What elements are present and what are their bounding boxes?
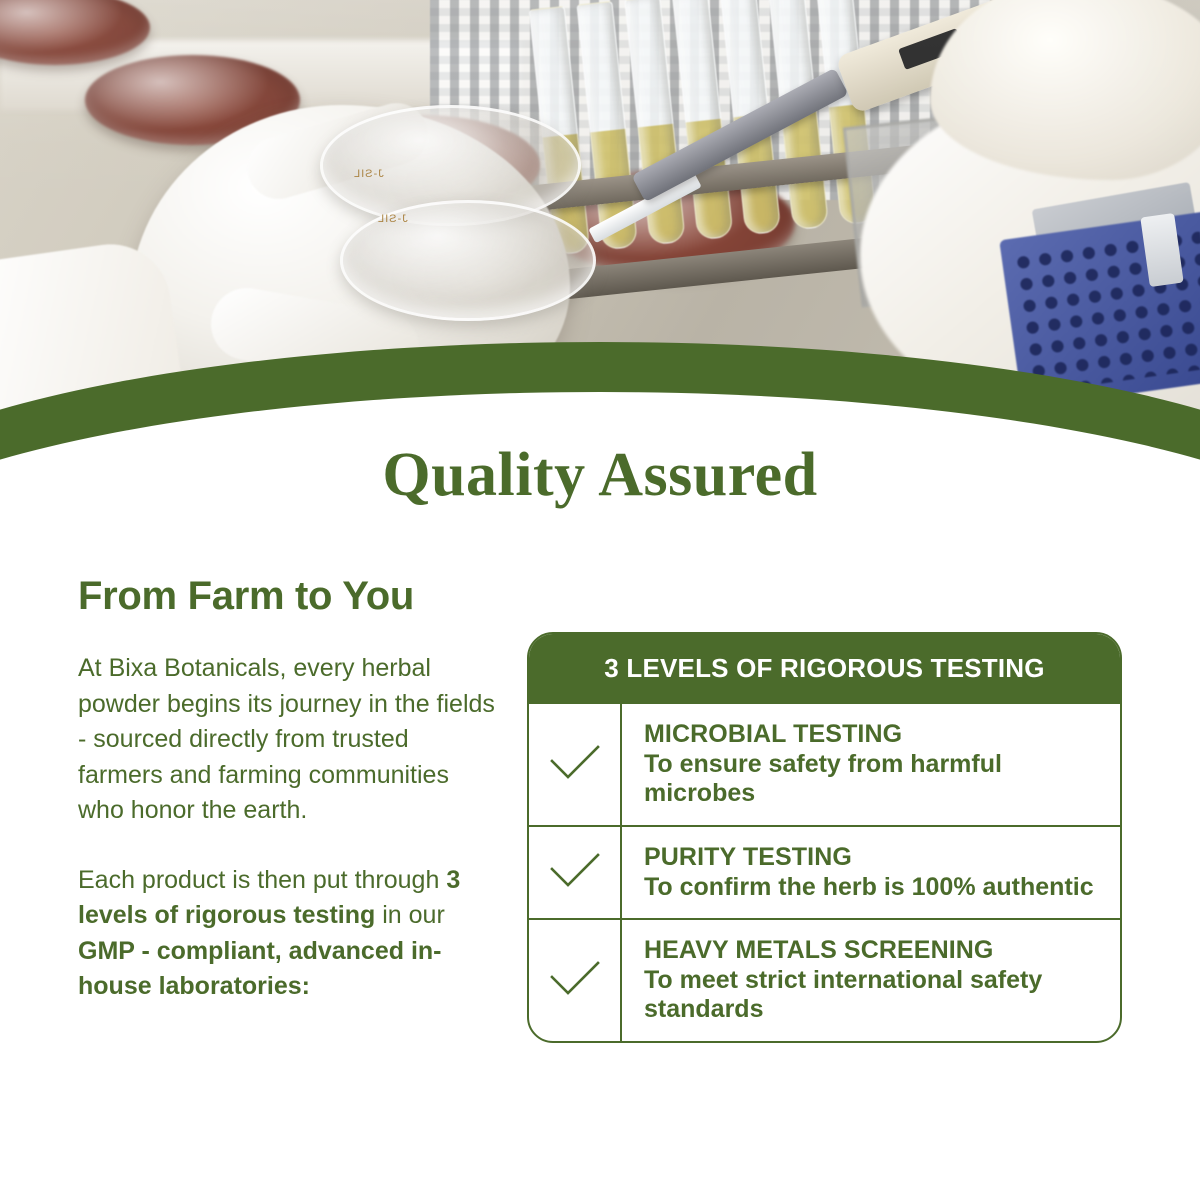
row-description: To ensure safety from harmful microbes [644, 750, 1104, 809]
row-title: MICROBIAL TESTING [644, 720, 1104, 749]
table-row: PURITY TESTING To confirm the herb is 10… [529, 825, 1120, 918]
intro-paragraph: At Bixa Botanicals, every herbal powder … [78, 651, 498, 829]
card-header: 3 LEVELS OF RIGOROUS TESTING [528, 633, 1121, 702]
left-column: From Farm to You At Bixa Botanicals, eve… [78, 575, 498, 1039]
table-row: HEAVY METALS SCREENING To meet strict in… [529, 918, 1120, 1041]
row-text: MICROBIAL TESTING To ensure safety from … [622, 704, 1120, 825]
testing-paragraph: Each product is then put through 3 level… [78, 863, 498, 1005]
section-heading: From Farm to You [78, 575, 498, 617]
quality-assured-infographic: J-SIL J-SIL Quality Assured From Farm to… [0, 0, 1200, 1200]
row-text: HEAVY METALS SCREENING To meet strict in… [622, 920, 1120, 1041]
check-cell [529, 827, 622, 918]
table-row: MICROBIAL TESTING To ensure safety from … [529, 702, 1120, 825]
check-icon [549, 851, 601, 893]
check-cell [529, 920, 622, 1041]
page-title: Quality Assured [0, 440, 1200, 511]
check-icon [549, 743, 601, 785]
paragraph2-part1: Each product is then put through [78, 866, 446, 894]
check-cell [529, 704, 622, 825]
testing-levels-card: 3 LEVELS OF RIGOROUS TESTING MICROBIAL T… [527, 632, 1122, 1043]
paragraph2-part2: in our [375, 901, 444, 929]
row-title: HEAVY METALS SCREENING [644, 936, 1104, 965]
petri-dish-icon: J-SIL [340, 200, 596, 321]
paragraph2-bold2: GMP - compliant, advanced in-house labor… [78, 937, 442, 1001]
dish-label: J-SIL [353, 168, 384, 180]
row-description: To meet strict international safety stan… [644, 966, 1104, 1025]
dish-label: J-SIL [377, 213, 408, 225]
row-description: To confirm the herb is 100% authentic [644, 873, 1104, 903]
check-icon [549, 959, 601, 1001]
row-title: PURITY TESTING [644, 843, 1104, 872]
row-text: PURITY TESTING To confirm the herb is 10… [622, 827, 1120, 918]
